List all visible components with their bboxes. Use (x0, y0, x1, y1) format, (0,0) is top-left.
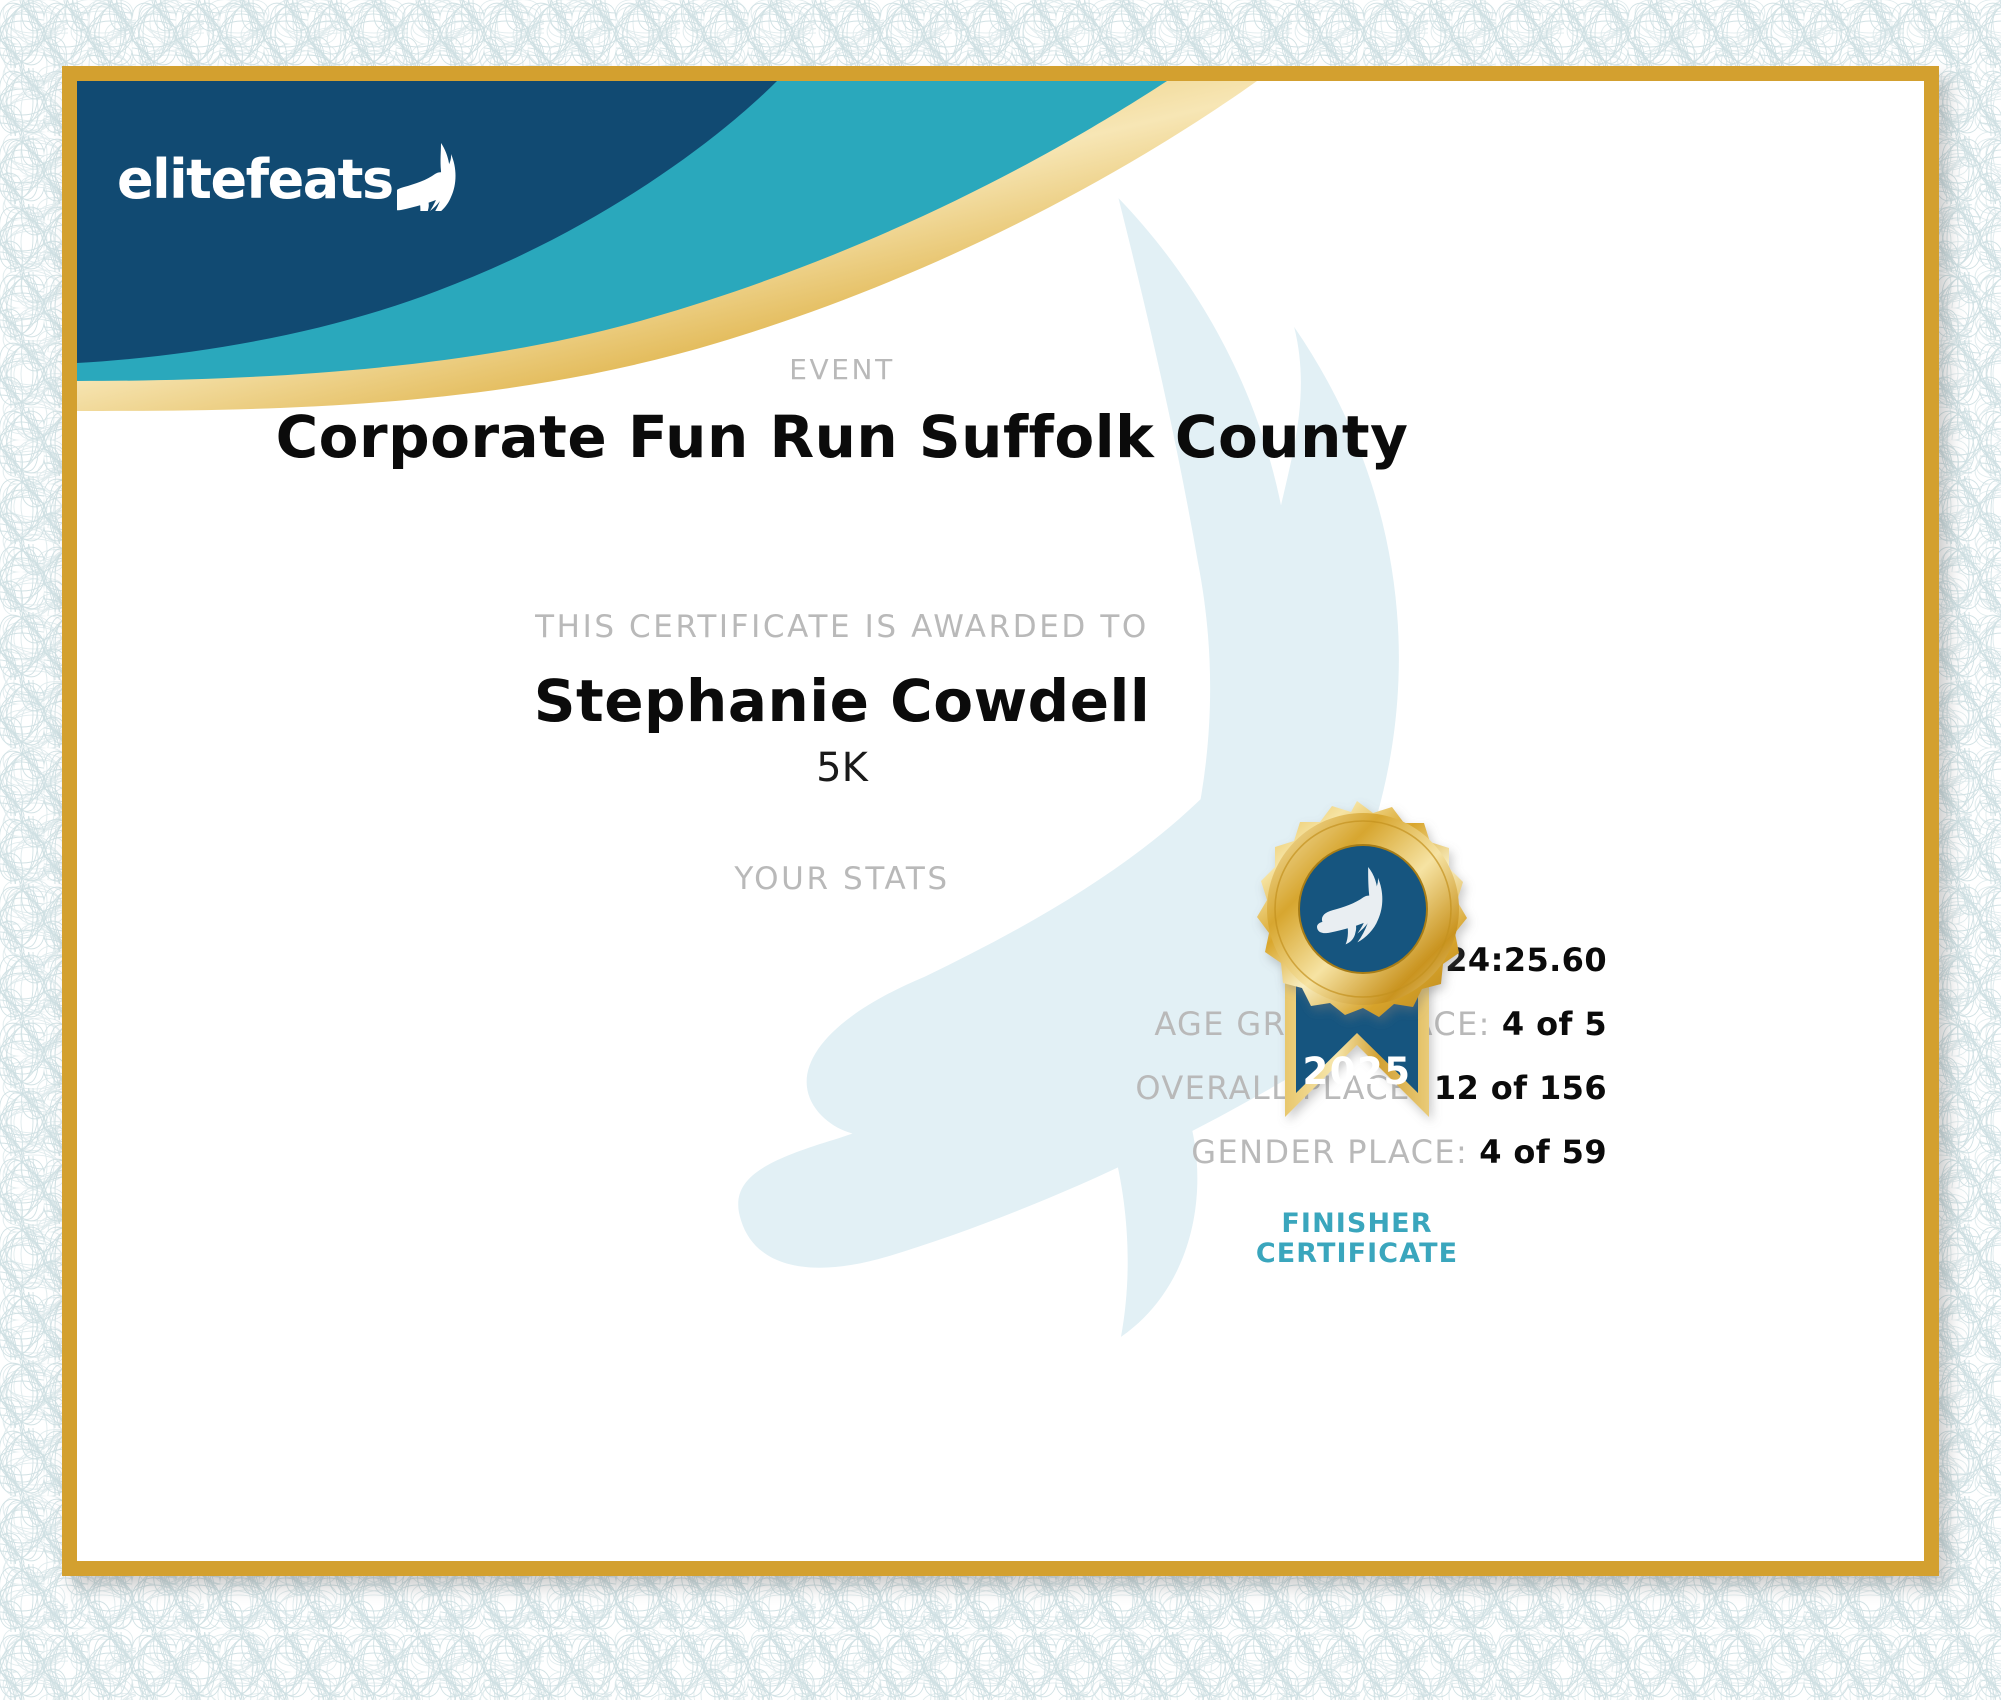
awarded-to-label: THIS CERTIFICATE IS AWARDED TO (77, 609, 1607, 645)
stat-value: 4 of 5 (1502, 1005, 1607, 1043)
medal-ribbon-graphic: 2025 (1217, 787, 1497, 1207)
badge-caption-line2: CERTIFICATE (1217, 1239, 1497, 1269)
badge-year: 2025 (1303, 1050, 1412, 1093)
badge-caption: FINISHER CERTIFICATE (1217, 1209, 1497, 1269)
stat-value: 4 of 59 (1479, 1133, 1607, 1171)
badge-caption-line1: FINISHER (1217, 1209, 1497, 1239)
event-title: Corporate Fun Run Suffolk County (77, 403, 1607, 471)
recipient-name: Stephanie Cowdell (77, 667, 1607, 735)
certificate-card: elitefeats EVENT Corporate Fun Run Suffo… (62, 66, 1939, 1576)
finisher-medal-badge: 2025 FINISHER CERTIFICATE (1217, 787, 1497, 1269)
certificate-page: elitefeats EVENT Corporate Fun Run Suffo… (0, 0, 2001, 1700)
race-distance: 5K (77, 745, 1607, 791)
event-label: EVENT (77, 353, 1607, 386)
